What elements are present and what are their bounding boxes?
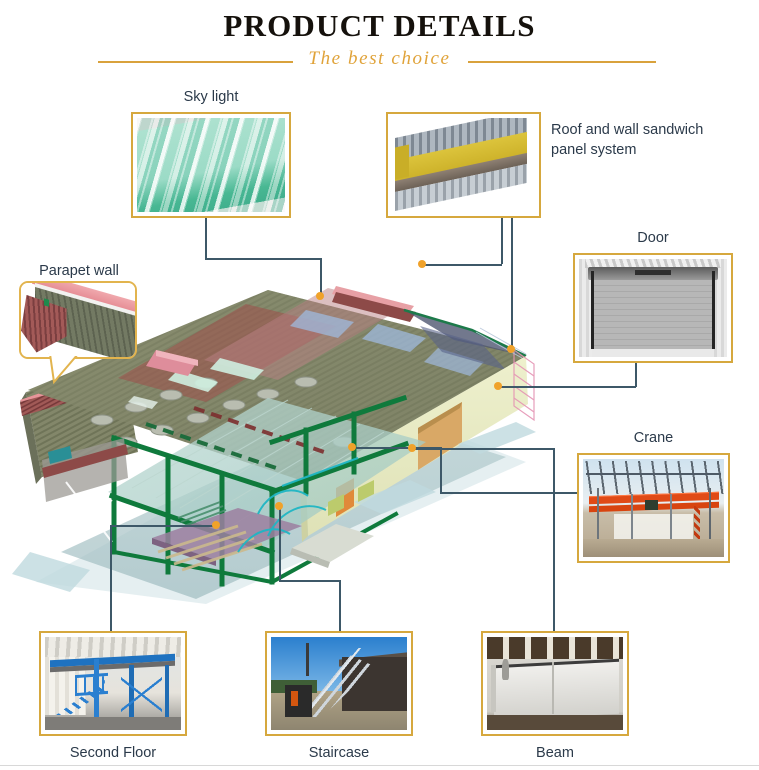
anchor-dot-door xyxy=(494,382,502,390)
connector-sandwich-seg1 xyxy=(501,218,503,264)
photo-callout-parapet-wall[interactable] xyxy=(19,281,137,359)
connector-door-seg1 xyxy=(635,363,637,387)
photo-card-crane[interactable] xyxy=(577,453,730,563)
connector-crane-seg2 xyxy=(440,447,442,493)
caption-door: Door xyxy=(573,229,733,249)
connector-second-floor-seg2 xyxy=(110,525,112,632)
connector-staircase-seg1 xyxy=(279,506,281,580)
anchor-dot-beam xyxy=(408,444,416,452)
connector-beam-seg1 xyxy=(412,448,554,450)
connector-second-floor-seg1 xyxy=(110,525,216,527)
photo-door xyxy=(579,259,727,357)
photo-beam xyxy=(487,637,623,730)
photo-staircase xyxy=(271,637,407,730)
connector-staircase-seg2 xyxy=(279,580,340,582)
caption-crane: Crane xyxy=(577,429,730,449)
caption-parapet-wall: Parapet wall xyxy=(19,262,139,282)
photo-card-second-floor[interactable] xyxy=(39,631,187,736)
caption-second-floor: Second Floor xyxy=(39,744,187,764)
product-details-infographic: PRODUCT DETAILS The best choice xyxy=(0,0,759,770)
caption-staircase: Staircase xyxy=(265,744,413,764)
connector-crane-seg1 xyxy=(440,492,578,494)
photo-card-door[interactable] xyxy=(573,253,733,363)
photo-sky-light xyxy=(137,118,285,212)
anchor-dot-crane xyxy=(348,443,356,451)
anchor-dot-sky-light xyxy=(316,292,324,300)
page-title: PRODUCT DETAILS xyxy=(0,8,759,44)
anchor-dot-sandwich-wall xyxy=(507,345,515,353)
footer-divider xyxy=(0,765,759,766)
caption-sandwich-panel: Roof and wall sandwich panel system xyxy=(551,121,741,160)
photo-card-sky-light[interactable] xyxy=(131,112,291,218)
connector-sandwich-seg2 xyxy=(423,264,502,266)
connector-sandwich-seg3 xyxy=(511,218,513,348)
connector-sky-light-seg1 xyxy=(205,218,207,258)
photo-second-floor xyxy=(45,637,181,730)
connector-staircase-seg3 xyxy=(339,580,341,632)
photo-parapet-wall xyxy=(21,283,135,357)
photo-crane xyxy=(583,459,724,557)
caption-beam: Beam xyxy=(481,744,629,764)
caption-sky-light: Sky light xyxy=(131,88,291,108)
connector-beam-seg4 xyxy=(553,487,555,632)
anchor-dot-second-floor xyxy=(212,521,220,529)
page-subtitle: The best choice xyxy=(0,48,759,70)
photo-card-sandwich-panel[interactable] xyxy=(386,112,541,218)
connector-door-seg2 xyxy=(500,386,636,388)
header-rule-right xyxy=(468,61,656,63)
connector-beam-seg2 xyxy=(553,448,555,488)
anchor-dot-staircase xyxy=(275,502,283,510)
callout-tail-parapet-wall xyxy=(44,352,92,384)
connector-sky-light-seg2 xyxy=(205,258,321,260)
anchor-dot-sandwich-roof xyxy=(418,260,426,268)
photo-sandwich-panel xyxy=(392,118,535,212)
photo-card-beam[interactable] xyxy=(481,631,629,736)
photo-card-staircase[interactable] xyxy=(265,631,413,736)
